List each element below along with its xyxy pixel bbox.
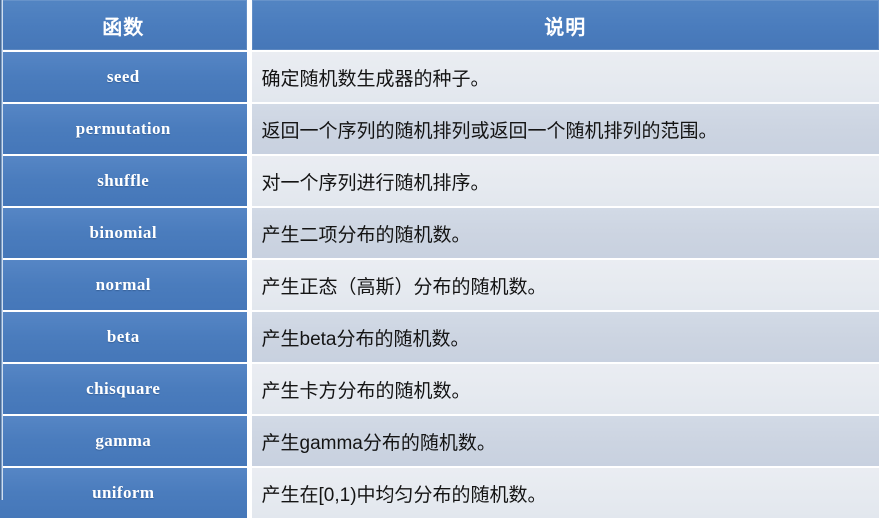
table-row: normal 产生正态（高斯）分布的随机数。	[0, 259, 879, 311]
table-header: 函数 说明	[0, 0, 879, 51]
table-row: permutation 返回一个序列的随机排列或返回一个随机排列的范围。	[0, 103, 879, 155]
column-header-description: 说明	[249, 0, 879, 51]
cell-function-description: 确定随机数生成器的种子。	[249, 51, 879, 103]
table-body: seed 确定随机数生成器的种子。 permutation 返回一个序列的随机排…	[0, 51, 879, 518]
cell-function-description: 产生正态（高斯）分布的随机数。	[249, 259, 879, 311]
cell-function-name: gamma	[0, 415, 249, 467]
table-row: shuffle 对一个序列进行随机排序。	[0, 155, 879, 207]
cell-function-description: 产生gamma分布的随机数。	[249, 415, 879, 467]
numpy-random-functions-table: 函数 说明 seed 确定随机数生成器的种子。 permutation 返回一个…	[0, 0, 879, 518]
column-header-function: 函数	[0, 0, 249, 51]
cell-function-name: binomial	[0, 207, 249, 259]
cell-function-description: 产生卡方分布的随机数。	[249, 363, 879, 415]
table-row: seed 确定随机数生成器的种子。	[0, 51, 879, 103]
cell-function-name: normal	[0, 259, 249, 311]
cell-function-name: beta	[0, 311, 249, 363]
table-row: uniform 产生在[0,1)中均匀分布的随机数。	[0, 467, 879, 518]
table-row: binomial 产生二项分布的随机数。	[0, 207, 879, 259]
table-row: gamma 产生gamma分布的随机数。	[0, 415, 879, 467]
left-edge-strip	[0, 0, 3, 500]
cell-function-name: chisquare	[0, 363, 249, 415]
cell-function-name: uniform	[0, 467, 249, 518]
table-row: chisquare 产生卡方分布的随机数。	[0, 363, 879, 415]
cell-function-description: 返回一个序列的随机排列或返回一个随机排列的范围。	[249, 103, 879, 155]
cell-function-name: permutation	[0, 103, 249, 155]
function-reference-table: 函数 说明 seed 确定随机数生成器的种子。 permutation 返回一个…	[0, 0, 879, 500]
table-row: beta 产生beta分布的随机数。	[0, 311, 879, 363]
table-header-row: 函数 说明	[0, 0, 879, 51]
cell-function-description: 产生在[0,1)中均匀分布的随机数。	[249, 467, 879, 518]
cell-function-name: seed	[0, 51, 249, 103]
cell-function-description: 产生beta分布的随机数。	[249, 311, 879, 363]
cell-function-description: 产生二项分布的随机数。	[249, 207, 879, 259]
cell-function-description: 对一个序列进行随机排序。	[249, 155, 879, 207]
cell-function-name: shuffle	[0, 155, 249, 207]
